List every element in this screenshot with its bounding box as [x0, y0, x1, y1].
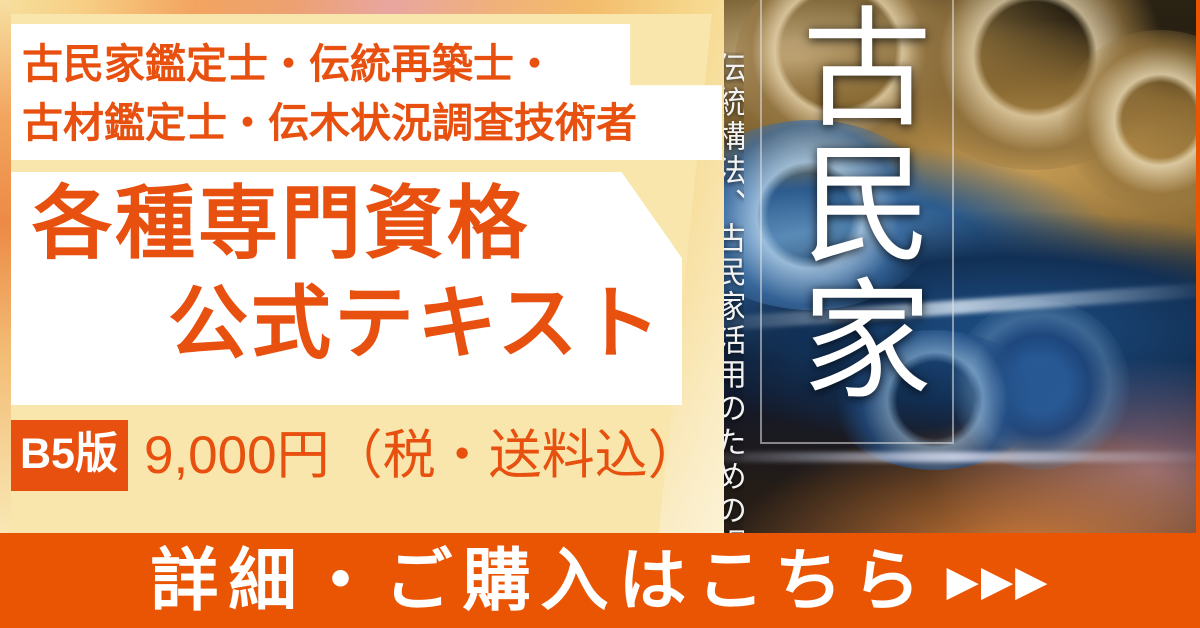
qualification-line-2: 古材鑑定士・伝木状況調査技術者: [10, 94, 722, 153]
cta-bar[interactable]: 詳細・ご購入はこちら ▶▶▶: [0, 533, 1200, 628]
cta-label: 詳細・ご購入はこちら: [151, 547, 931, 615]
promo-banner: 古民家 伝統構法、古民家活用のための調査と再生の 古民家鑑定士・伝統再築士・ 古…: [0, 0, 1200, 628]
price-row: B5版 9,000円（税・送料込）: [10, 419, 701, 491]
left-edge-strip: [0, 0, 11, 533]
headline-panel: 各種専門資格 公式テキスト: [10, 172, 682, 405]
headline-line-1: 各種専門資格: [32, 184, 530, 264]
qualifications-panel: 古民家鑑定士・伝統再築士・ 古材鑑定士・伝木状況調査技術者: [10, 24, 722, 160]
price-amount: 9,000円（税・送料込）: [144, 429, 701, 482]
headline-line-2: 公式テキスト: [168, 284, 664, 364]
book-cover-title: 古民家: [790, 0, 920, 408]
right-edge-strip: [1196, 0, 1200, 533]
format-badge: B5版: [10, 420, 128, 491]
qualification-line-1: 古民家鑑定士・伝統再築士・: [10, 35, 722, 94]
triple-arrow-icon: ▶▶▶: [947, 560, 1050, 602]
wave-highlight-2: [690, 452, 1200, 462]
